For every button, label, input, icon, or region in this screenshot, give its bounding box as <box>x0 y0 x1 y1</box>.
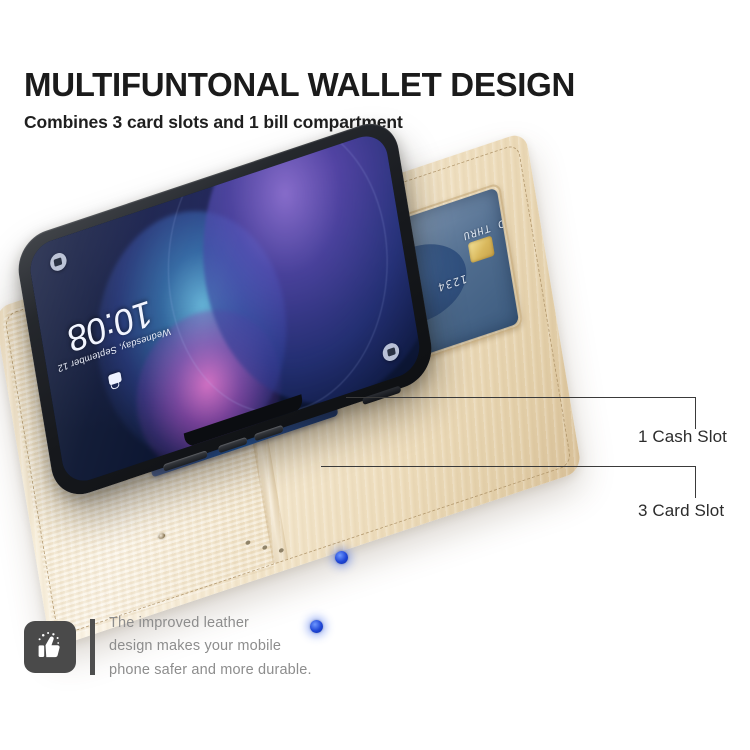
callout-label-cash-slot: 1 Cash Slot <box>638 427 727 447</box>
product-photo: 5678 1234 1234 00/00 VALID THRU 1234 NAM… <box>0 160 640 600</box>
card-slot-leader-drop <box>695 466 696 498</box>
page-title: MULTIFUNTONAL WALLET DESIGN <box>24 68 724 103</box>
cash-slot-leader-drop <box>695 397 696 429</box>
footer-divider <box>90 619 95 675</box>
thumbs-up-icon <box>24 621 76 673</box>
footer-text: The improved leather design makes your m… <box>109 612 312 682</box>
footer-note: The improved leather design makes your m… <box>24 612 312 682</box>
product-infographic: MULTIFUNTONAL WALLET DESIGN Combines 3 c… <box>0 0 750 750</box>
cash-slot-marker[interactable] <box>335 551 348 564</box>
cash-slot-leader-line <box>346 397 696 398</box>
footer-line-1: The improved leather <box>109 612 312 635</box>
footer-line-2: design makes your mobile <box>109 635 312 658</box>
footer-line-3: phone safer and more durable. <box>109 659 312 682</box>
card-slot-leader-line <box>321 466 696 467</box>
callout-label-card-slot: 3 Card Slot <box>638 501 724 521</box>
card-slot-marker[interactable] <box>310 620 323 633</box>
